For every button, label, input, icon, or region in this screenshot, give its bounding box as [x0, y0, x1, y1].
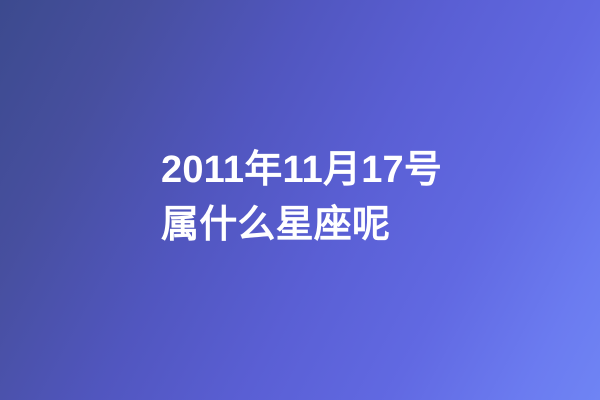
title-card: 2011年11月17号属什么星座呢 — [0, 0, 600, 400]
page-title: 2011年11月17号属什么星座呢 — [161, 143, 450, 253]
title-block: 2011年11月17号属什么星座呢 — [0, 143, 600, 253]
